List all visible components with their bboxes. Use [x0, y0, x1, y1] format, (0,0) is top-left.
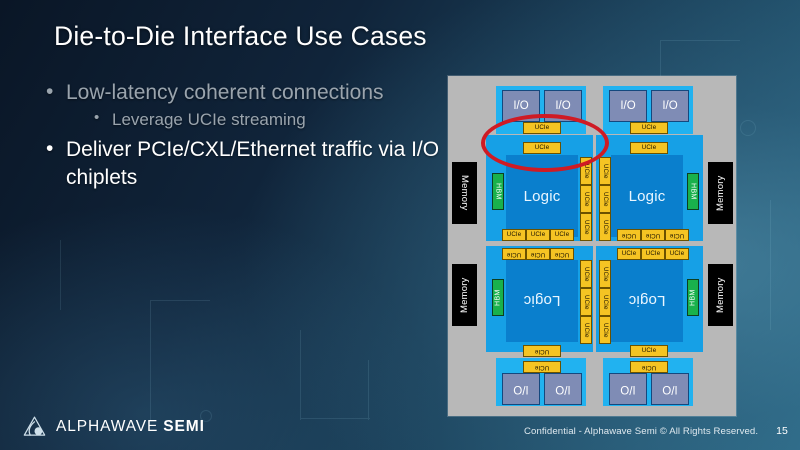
logic-block: Logic: [611, 155, 683, 237]
ucie-tile: UCIe: [550, 229, 574, 241]
ucie-tile: UCIe: [617, 248, 641, 260]
ucie-tile: UCIe: [599, 185, 611, 213]
ucie-tile: UCIe: [550, 248, 574, 260]
hbm-block: HBM: [687, 173, 699, 210]
diagram-multi-die-package-floorplan: I/O I/O UCIe I/O I/O UCIe Logic UCIe HBM…: [448, 76, 736, 416]
ucie-tile: UCIe: [580, 157, 592, 185]
ucie-tile: UCIe: [523, 122, 561, 134]
ucie-tile: UCIe: [502, 229, 526, 241]
bullet-item-1: Low-latency coherent connections: [42, 79, 442, 106]
hbm-block: HBM: [687, 279, 699, 316]
ucie-tile: UCIe: [580, 185, 592, 213]
ucie-tile: UCIe: [526, 248, 550, 260]
ucie-tile: UCIe: [630, 142, 668, 154]
brand-logo: ALPHAWAVESEMI: [22, 414, 205, 439]
logic-block: Logic: [611, 260, 683, 342]
ucie-tile: UCIe: [665, 248, 689, 260]
memory-stack-bottom-right: Memory: [708, 264, 733, 326]
ucie-tile: UCIe: [599, 157, 611, 185]
ucie-tile: UCIe: [641, 248, 665, 260]
bullet-item-2: Leverage UCIe streaming: [88, 109, 442, 131]
brand-wordmark-bold: SEMI: [163, 418, 205, 435]
confidential-footer: Confidential - Alphawave Semi © All Righ…: [524, 425, 788, 437]
memory-stack-top-left: Memory: [452, 162, 477, 224]
ucie-tile: UCIe: [641, 229, 665, 241]
ucie-tile: UCIe: [580, 260, 592, 288]
page-title: Die-to-Die Interface Use Cases: [54, 21, 454, 52]
ucie-tile: UCIe: [502, 248, 526, 260]
io-chiplet-carrier-bottom-right: UCIe I/O I/O: [603, 358, 693, 406]
io-chiplet: I/O: [651, 373, 689, 405]
ucie-tile: UCIe: [599, 213, 611, 241]
memory-stack-bottom-left: Memory: [452, 264, 477, 326]
alphawave-triangle-logo-icon: [22, 414, 47, 439]
io-chiplet: I/O: [609, 373, 647, 405]
die-top-left: Logic UCIe HBM UCIe UCIe UCIe UCIe UCIe …: [486, 135, 593, 241]
ucie-tile: UCIe: [580, 213, 592, 241]
ucie-tile: UCIe: [523, 345, 561, 357]
logic-block: Logic: [506, 260, 578, 342]
bullet-item-3: Deliver PCIe/CXL/Ethernet traffic via I/…: [42, 136, 442, 191]
page-number: 15: [776, 425, 788, 437]
memory-stack-top-right: Memory: [708, 162, 733, 224]
io-chiplet: I/O: [502, 90, 540, 122]
ucie-tile: UCIe: [599, 316, 611, 344]
ucie-tile: UCIe: [580, 288, 592, 316]
io-chiplet: I/O: [502, 373, 540, 405]
io-chiplet: I/O: [544, 90, 582, 122]
hbm-block: HBM: [492, 279, 504, 316]
ucie-tile: UCIe: [526, 229, 550, 241]
bullet-list: Low-latency coherent connections Leverag…: [42, 79, 442, 193]
logic-block: Logic: [506, 155, 578, 237]
io-chiplet-carrier-top-right: I/O I/O UCIe: [603, 86, 693, 134]
ucie-tile: UCIe: [630, 361, 668, 373]
die-top-right: Logic UCIe HBM UCIe UCIe UCIe UCIe UCIe …: [596, 135, 703, 241]
ucie-tile: UCIe: [599, 288, 611, 316]
ucie-tile: UCIe: [523, 361, 561, 373]
ucie-tile: UCIe: [665, 229, 689, 241]
confidential-text: Confidential - Alphawave Semi © All Righ…: [524, 426, 758, 437]
io-chiplet-carrier-top-left: I/O I/O UCIe: [496, 86, 586, 134]
io-chiplet-carrier-bottom-left: UCIe I/O I/O: [496, 358, 586, 406]
ucie-tile: UCIe: [580, 316, 592, 344]
brand-wordmark: ALPHAWAVESEMI: [56, 418, 205, 436]
die-bottom-left: Logic UCIe UCIe UCIe HBM UCIe UCIe UCIe …: [486, 246, 593, 352]
slide: Die-to-Die Interface Use Cases Low-laten…: [0, 0, 800, 450]
io-chiplet: I/O: [544, 373, 582, 405]
io-chiplet: I/O: [651, 90, 689, 122]
ucie-tile: UCIe: [523, 142, 561, 154]
ucie-tile: UCIe: [630, 122, 668, 134]
ucie-tile: UCIe: [630, 345, 668, 357]
brand-wordmark-light: ALPHAWAVE: [56, 418, 158, 435]
ucie-tile: UCIe: [599, 260, 611, 288]
io-chiplet: I/O: [609, 90, 647, 122]
hbm-block: HBM: [492, 173, 504, 210]
ucie-tile: UCIe: [617, 229, 641, 241]
die-bottom-right: Logic UCIe UCIe UCIe HBM UCIe UCIe UCIe …: [596, 246, 703, 352]
